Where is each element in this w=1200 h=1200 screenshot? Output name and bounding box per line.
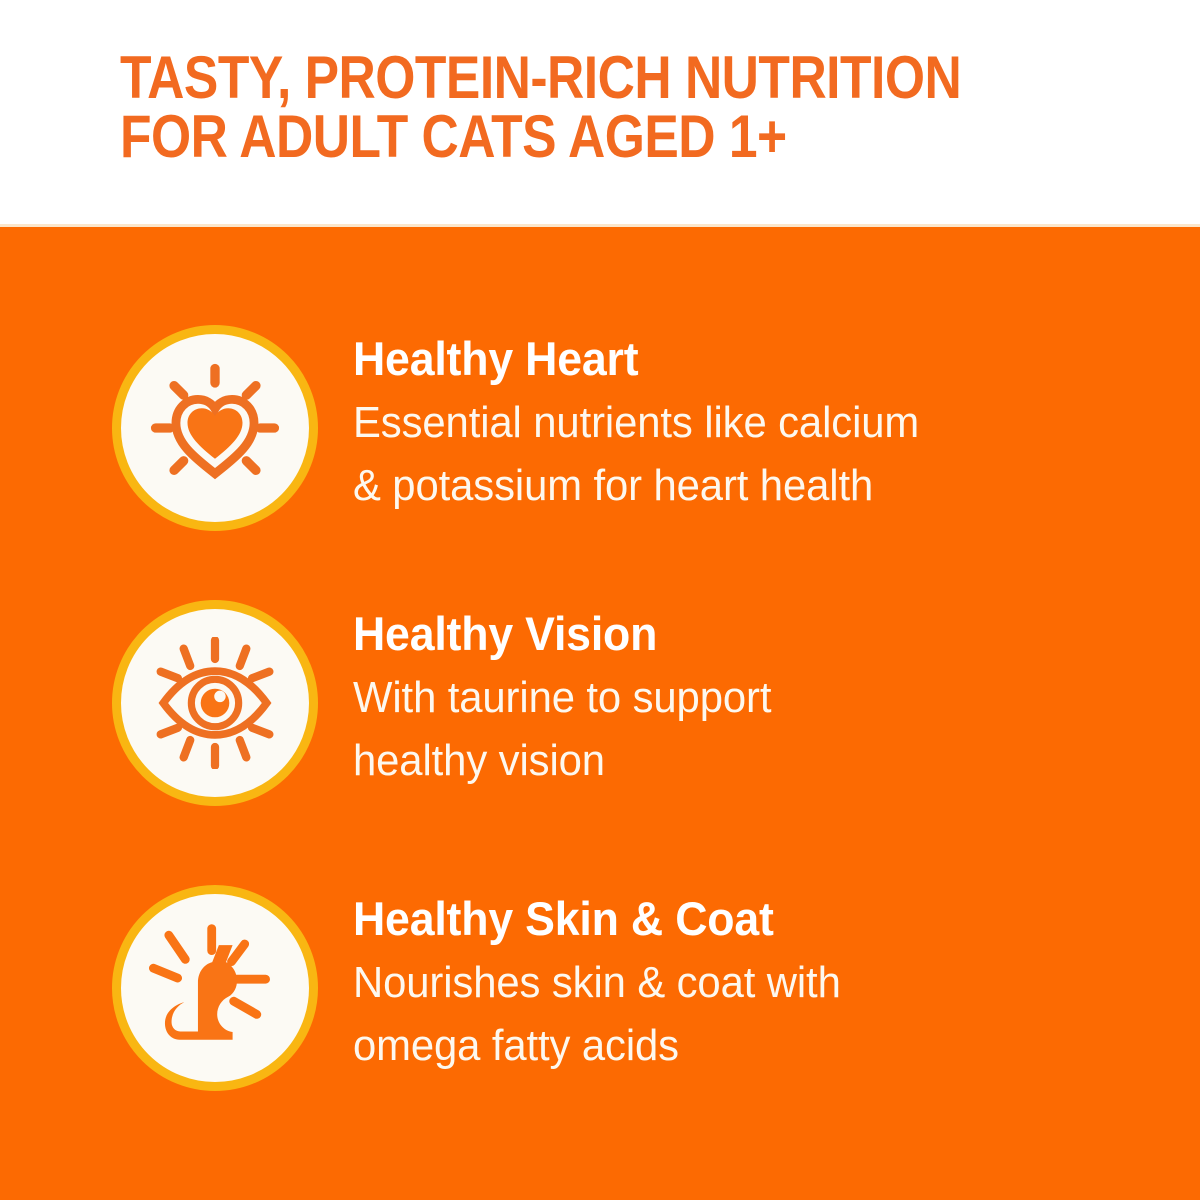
benefit-description: Nourishes skin & coat with omega fatty a…	[353, 947, 1074, 1077]
benefit-title: Healthy Heart	[353, 331, 1074, 387]
benefits-list: Healthy Heart Essential nutrients like c…	[0, 227, 1200, 1200]
benefits-panel: Healthy Heart Essential nutrients like c…	[0, 227, 1200, 1200]
benefit-text-block: Healthy Skin & Coat Nourishes skin & coa…	[353, 885, 1112, 1077]
benefit-item-healthy-vision: Healthy Vision With taurine to support h…	[112, 600, 1112, 806]
benefit-item-healthy-skin-coat: Healthy Skin & Coat Nourishes skin & coa…	[112, 885, 1112, 1091]
benefit-item-healthy-heart: Healthy Heart Essential nutrients like c…	[112, 325, 1112, 531]
benefit-description: Essential nutrients like calcium & potas…	[353, 387, 1074, 517]
radiant-heart-icon	[149, 362, 281, 494]
benefit-text-block: Healthy Heart Essential nutrients like c…	[353, 325, 1112, 517]
radiant-cat-icon	[149, 922, 281, 1054]
poster-header: TASTY, PROTEIN-RICH NUTRITION FOR ADULT …	[0, 0, 1200, 224]
benefit-description: With taurine to support healthy vision	[353, 662, 1074, 792]
benefit-title: Healthy Vision	[353, 606, 1074, 662]
benefit-icon-badge	[112, 325, 318, 531]
benefit-icon-badge	[112, 885, 318, 1091]
benefit-title: Healthy Skin & Coat	[353, 891, 1074, 947]
benefit-text-block: Healthy Vision With taurine to support h…	[353, 600, 1112, 792]
radiant-eye-icon	[149, 637, 281, 769]
product-benefits-poster: TASTY, PROTEIN-RICH NUTRITION FOR ADULT …	[0, 0, 1200, 1200]
benefit-icon-badge	[112, 600, 318, 806]
page-title: TASTY, PROTEIN-RICH NUTRITION FOR ADULT …	[120, 48, 1006, 166]
